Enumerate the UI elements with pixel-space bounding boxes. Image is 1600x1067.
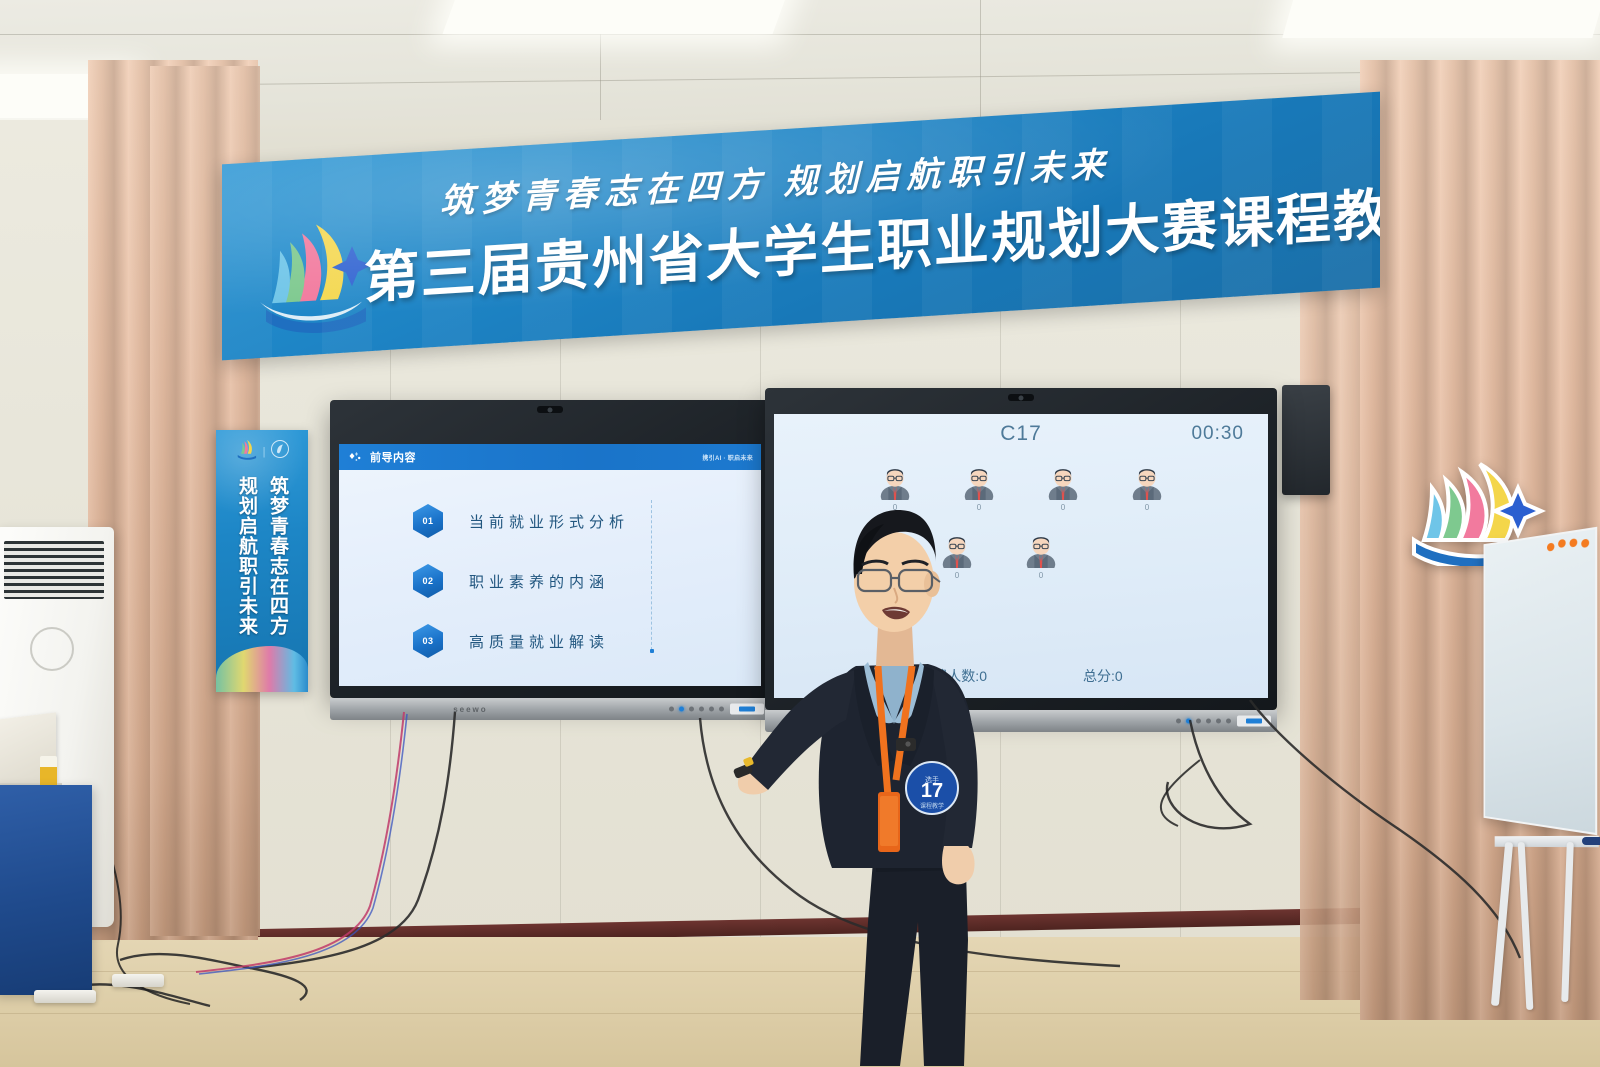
- total-score-label: 总分:0: [1083, 666, 1123, 686]
- easel-leg-back: [1518, 842, 1534, 1010]
- agenda-number-badge: 03: [413, 624, 443, 658]
- banner-title: 第三届贵州省大学生职业规划大赛课程教学赛道: [364, 158, 1380, 313]
- agenda-number-badge: 02: [413, 564, 443, 598]
- classroom-scene: 筑梦青春志在四方 规划启航职引未来 第三届贵州省大学生职业规划大赛课程教学赛道 …: [0, 0, 1600, 1067]
- judge-score: 0: [1061, 503, 1065, 512]
- standee-seal-logo: [270, 439, 290, 464]
- vertical-standee-banner: | 筑梦青春志在四方 规划启航职引未来: [216, 430, 308, 692]
- board-bezel-left: seewo: [330, 698, 770, 720]
- standee-sail-logo: [234, 438, 258, 465]
- sail-star-logo: [246, 211, 376, 339]
- easel-leg-front: [1491, 842, 1513, 1006]
- presenter: 选手 17 课程教学: [728, 470, 1048, 1067]
- slide-header: 前导内容 携引AI · 职启未来: [339, 444, 761, 470]
- judge-cell[interactable]: 0: [1125, 462, 1169, 512]
- magnet[interactable]: [1547, 542, 1554, 551]
- power-strip-1[interactable]: [34, 990, 96, 1003]
- slide-header-tagline: 携引AI · 职启未来: [702, 453, 753, 462]
- svg-text:课程教学: 课程教学: [920, 802, 944, 810]
- ac-control-dial[interactable]: [30, 627, 74, 671]
- drink-cup: [40, 756, 57, 788]
- judge-avatar-icon: [1128, 462, 1166, 500]
- magnet[interactable]: [1581, 539, 1589, 549]
- agenda-number: 03: [422, 636, 433, 646]
- wall-speaker: [1282, 385, 1330, 495]
- agenda-number: 01: [422, 516, 433, 526]
- contestant-code: C17: [1000, 422, 1042, 446]
- ceiling-light-right: [1282, 0, 1600, 38]
- board-status-tag: [1237, 716, 1271, 727]
- standee-line-right: 筑梦青春志在四方: [264, 476, 291, 656]
- agenda-item-2: 02 职业素养的内涵: [413, 564, 609, 598]
- countdown-timer: 00:30: [1191, 423, 1244, 445]
- slide-vertical-divider: [651, 500, 652, 650]
- easel-leg-side: [1561, 842, 1574, 1002]
- magnet[interactable]: [1558, 539, 1566, 548]
- svg-text:17: 17: [921, 780, 943, 802]
- logo-divider: |: [263, 446, 266, 458]
- agenda-number: 02: [422, 576, 433, 586]
- whiteboard-marker[interactable]: [1582, 837, 1600, 845]
- smart-board-left[interactable]: 前导内容 携引AI · 职启未来 01 当前就业形式分析 02 职业素养的内涵: [330, 400, 770, 698]
- whiteboard-easel: [1464, 536, 1600, 1006]
- slide-body: 01 当前就业形式分析 02 职业素养的内涵 03 高质量就业解读: [339, 470, 761, 686]
- board-button-row[interactable]: [1176, 719, 1231, 724]
- judge-score: 0: [1145, 503, 1149, 512]
- magnet[interactable]: [1570, 538, 1578, 547]
- agenda-number-badge: 01: [413, 504, 443, 538]
- agenda-label: 当前就业形式分析: [469, 511, 629, 532]
- board-camera-icon: [1008, 394, 1034, 401]
- ac-vent-grille: [4, 541, 104, 599]
- av-control-table: [0, 785, 92, 995]
- board-brand-label: seewo: [453, 705, 487, 714]
- agenda-item-3: 03 高质量就业解读: [413, 624, 609, 658]
- agenda-label: 高质量就业解读: [469, 631, 609, 652]
- agenda-label: 职业素养的内涵: [469, 571, 609, 592]
- board-camera-icon: [537, 406, 563, 413]
- presentation-slide[interactable]: 前导内容 携引AI · 职启未来 01 当前就业形式分析 02 职业素养的内涵: [339, 444, 761, 686]
- judge-avatar-icon: [1044, 462, 1082, 500]
- sparkle-diamond-icon: [347, 450, 363, 464]
- agenda-item-1: 01 当前就业形式分析: [413, 504, 629, 538]
- whiteboard-surface[interactable]: [1484, 527, 1598, 836]
- board-button-row[interactable]: [669, 707, 724, 712]
- standee-line-left: 规划启航职引未来: [233, 476, 260, 656]
- power-strip-2[interactable]: [112, 974, 164, 987]
- banner-subtitle: 筑梦青春志在四方 规划启航职引未来: [440, 137, 1112, 224]
- ceiling-light-center: [443, 0, 792, 34]
- slide-title: 前导内容: [370, 449, 416, 465]
